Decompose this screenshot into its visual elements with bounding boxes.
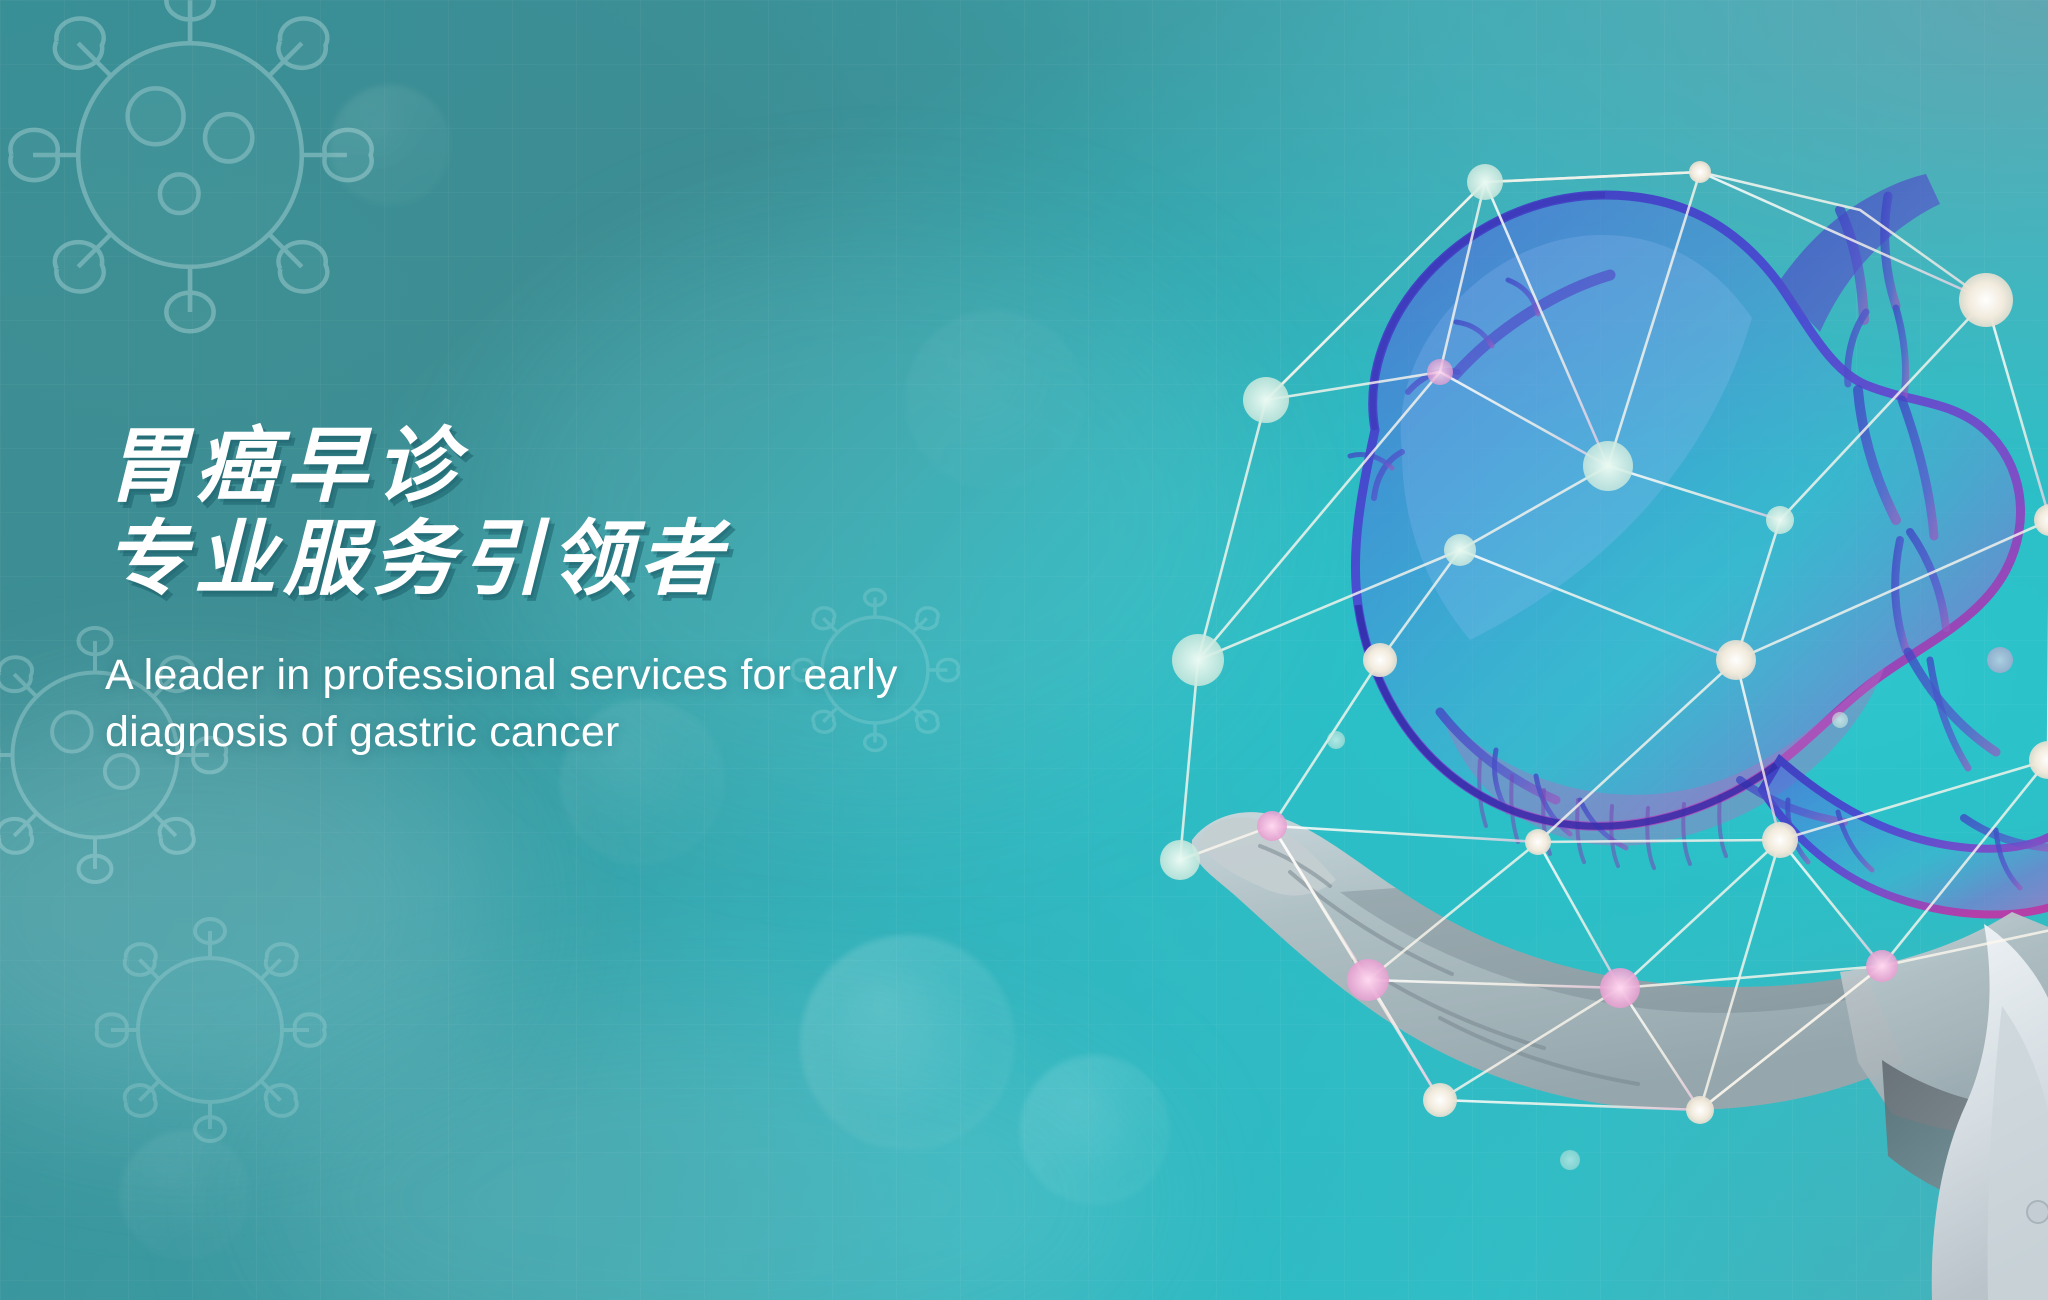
headline: 胃癌早诊 专业服务引领者: [105, 420, 1165, 607]
subtitle-line-2: diagnosis of gastric cancer: [105, 704, 1165, 761]
headline-line-2: 专业服务引领者: [105, 513, 1165, 606]
hero-artwork: [1140, 100, 2048, 1300]
subtitle-line-1: A leader in professional services for ea…: [105, 647, 1165, 704]
text-block: 胃癌早诊 专业服务引领者 A leader in professional se…: [105, 420, 1165, 761]
polygon-network-mesh: [1140, 100, 2048, 1300]
banner-root: 胃癌早诊 专业服务引领者 A leader in professional se…: [0, 0, 2048, 1300]
headline-line-1: 胃癌早诊: [105, 420, 1165, 513]
subtitle: A leader in professional services for ea…: [105, 647, 1165, 761]
